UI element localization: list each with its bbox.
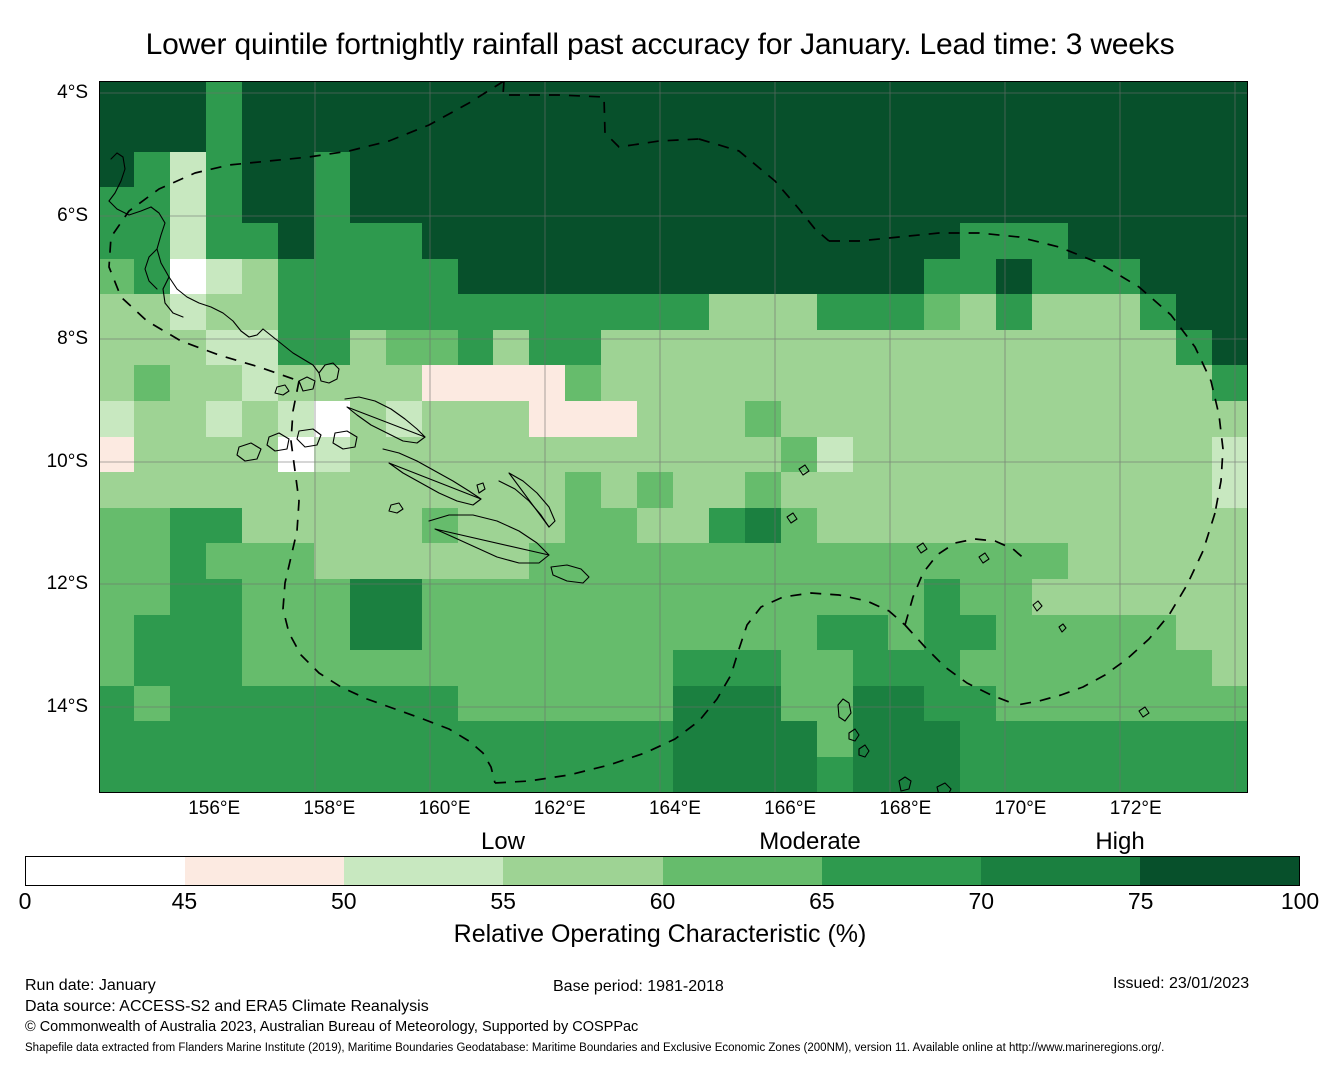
colorbar-category-label: Moderate xyxy=(759,828,860,856)
footer-left: Run date: January Data source: ACCESS-S2… xyxy=(25,975,638,1038)
colorbar-band xyxy=(1140,857,1299,885)
colorbar-tick-label: 65 xyxy=(809,888,835,915)
longitude-tick-label: 164°E xyxy=(649,798,701,820)
longitude-tick-label: 156°E xyxy=(188,798,240,820)
coastline-paths xyxy=(109,153,1149,793)
longitude-tick-label: 160°E xyxy=(419,798,471,820)
latitude-tick-label: 4°S xyxy=(57,82,88,104)
latitude-tick-label: 14°S xyxy=(47,696,88,718)
page-title: Lower quintile fortnightly rainfall past… xyxy=(0,28,1320,62)
issued-date-text: Issued: 23/01/2023 xyxy=(1113,975,1249,993)
longitude-tick-label: 162°E xyxy=(534,798,586,820)
copyright-text: © Commonwealth of Australia 2023, Austra… xyxy=(25,1017,638,1038)
colorbar-category-label: High xyxy=(1095,828,1144,856)
map-canvas xyxy=(99,81,1248,793)
longitude-tick-label: 172°E xyxy=(1110,798,1162,820)
longitude-tick-label: 170°E xyxy=(995,798,1047,820)
longitude-tick-label: 166°E xyxy=(764,798,816,820)
graticule-lines xyxy=(99,81,1248,793)
colorbar-title: Relative Operating Characteristic (%) xyxy=(0,920,1320,949)
colorbar-band xyxy=(185,857,344,885)
colorbar-tick-label: 50 xyxy=(331,888,357,915)
latitude-tick-label: 10°S xyxy=(47,451,88,473)
colorbar-band xyxy=(981,857,1140,885)
colorbar-band xyxy=(663,857,822,885)
shapefile-attribution-text: Shapefile data extracted from Flanders M… xyxy=(25,1040,1295,1056)
colorbar-band xyxy=(503,857,662,885)
map-vector-layer xyxy=(99,81,1248,793)
latitude-tick-label: 12°S xyxy=(47,573,88,595)
colorbar-tick-label: 45 xyxy=(172,888,198,915)
eez-boundary-dashed xyxy=(109,81,1223,783)
colorbar-category-labels: LowModerateHigh xyxy=(0,828,1320,856)
latitude-tick-label: 6°S xyxy=(57,205,88,227)
latitude-tick-label: 8°S xyxy=(57,328,88,350)
colorbar-tick-label: 60 xyxy=(650,888,676,915)
colorbar-tick-label: 55 xyxy=(490,888,516,915)
colorbar-tick-label: 0 xyxy=(19,888,32,915)
colorbar-tick-label: 75 xyxy=(1128,888,1154,915)
colorbar-category-label: Low xyxy=(481,828,525,856)
colorbar-band xyxy=(344,857,503,885)
base-period-text: Base period: 1981-2018 xyxy=(553,978,724,996)
colorbar-tick-label: 100 xyxy=(1281,888,1319,915)
data-source-text: Data source: ACCESS-S2 and ERA5 Climate … xyxy=(25,996,638,1017)
colorbar xyxy=(25,856,1300,886)
colorbar-band xyxy=(26,857,185,885)
colorbar-tick-labels: 045505560657075100 xyxy=(0,888,1320,916)
colorbar-band xyxy=(822,857,981,885)
longitude-tick-label: 158°E xyxy=(303,798,355,820)
colorbar-tick-label: 70 xyxy=(968,888,994,915)
longitude-tick-label: 168°E xyxy=(879,798,931,820)
run-date-text: Run date: January xyxy=(25,975,638,996)
